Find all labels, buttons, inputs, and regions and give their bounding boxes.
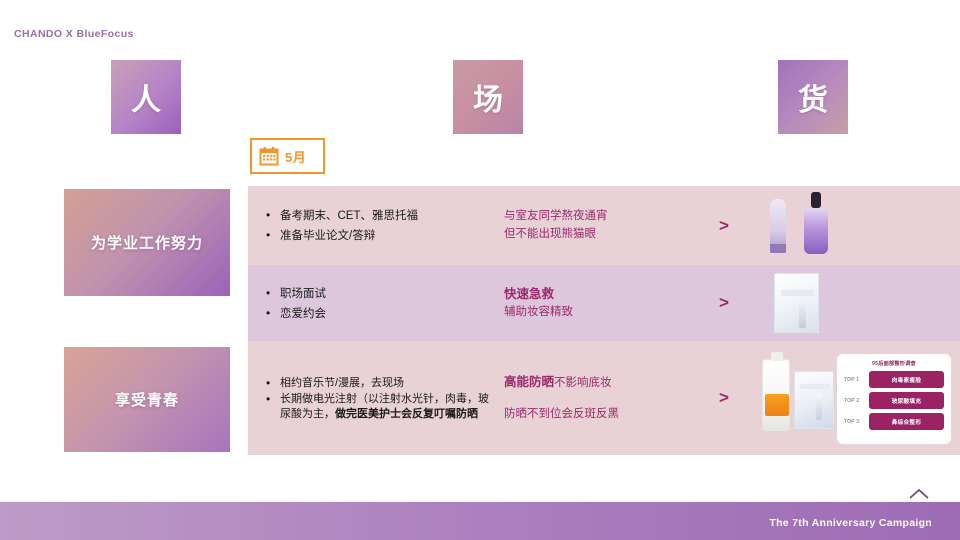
- row3-insight: 高能防晒不影响底妆 防晒不到位会反斑反黑: [500, 341, 700, 455]
- top-item-label: 肉毒素瘦脸: [869, 371, 944, 388]
- row1-insight: 与室友同学熬夜通宵 但不能出现熊猫眼: [500, 186, 700, 265]
- table-row: 相约音乐节/漫展，去现场 长期做电光注射（以注射水光针，肉毒，玻尿酸为主，做完医…: [248, 341, 960, 455]
- insight-highlight: 快速急救: [504, 285, 696, 304]
- top-ranking-row: TOP 1 肉毒素瘦脸: [844, 371, 944, 388]
- row2-arrow[interactable]: >: [700, 265, 748, 341]
- row1-bullets: 备考期末、CET、雅思托福 准备毕业论文/答辩: [248, 186, 500, 265]
- scenario-rows: 备考期末、CET、雅思托福 准备毕业论文/答辩 与室友同学熬夜通宵 但不能出现熊…: [248, 186, 960, 455]
- persona-tile-enjoy-youth: 享受青春: [64, 347, 230, 452]
- top-ranking-row: TOP 3 鼻综合整形: [844, 413, 944, 430]
- chevron-right-icon[interactable]: >: [719, 293, 729, 313]
- category-tile-goods: 货: [778, 60, 848, 134]
- insight-line: 辅助妆容精致: [504, 304, 696, 321]
- insight-line: 与室友同学熬夜通宵: [504, 208, 696, 225]
- top-ranking-card: 95后面部整形调查 TOP 1 肉毒素瘦脸 TOP 2 玻尿酸填充 TOP 3 …: [836, 353, 952, 445]
- top-ranking-row: TOP 2 玻尿酸填充: [844, 392, 944, 409]
- eye-cream-tube-image: [770, 199, 786, 253]
- category-tile-people: 人: [111, 60, 181, 134]
- table-row: 职场面试 恋爱约会 快速急救 辅助妆容精致 >: [248, 265, 960, 341]
- row2-insight: 快速急救 辅助妆容精致: [500, 265, 700, 341]
- row3-products: 95后面部整形调查 TOP 1 肉毒素瘦脸 TOP 2 玻尿酸填充 TOP 3 …: [748, 341, 960, 455]
- list-item: 职场面试: [266, 286, 494, 303]
- list-item: 恋爱约会: [266, 306, 494, 323]
- list-item: 相约音乐节/漫展，去现场: [266, 376, 494, 391]
- insight-line: 但不能出现熊猫眼: [504, 226, 696, 243]
- month-label: 5月: [285, 147, 306, 166]
- top-ranking-title: 95后面部整形调查: [844, 360, 944, 367]
- sheet-mask-box-image: [774, 273, 819, 333]
- row1-arrow[interactable]: >: [700, 186, 748, 265]
- list-item-emphasis: 做完医美护士会反复叮嘱防晒: [335, 408, 478, 420]
- row2-bullets: 职场面试 恋爱约会: [248, 265, 500, 341]
- insight-highlight: 高能防晒: [504, 375, 554, 389]
- top-rank-label: TOP 3: [844, 419, 864, 425]
- table-row: 备考期末、CET、雅思托福 准备毕业论文/答辩 与室友同学熬夜通宵 但不能出现熊…: [248, 186, 960, 265]
- row3-bullets: 相约音乐节/漫展，去现场 长期做电光注射（以注射水光针，肉毒，玻尿酸为主，做完医…: [248, 341, 500, 455]
- category-tile-scene-label: 场: [473, 75, 503, 119]
- top-rank-label: TOP 2: [844, 398, 864, 404]
- insight-highlight-tail: 不影响底妆: [554, 377, 612, 389]
- chevron-right-icon[interactable]: >: [719, 388, 729, 408]
- category-tile-people-label: 人: [131, 75, 161, 119]
- list-item: 准备毕业论文/答辩: [266, 228, 494, 245]
- chevron-up-icon[interactable]: [908, 487, 930, 499]
- list-item: 长期做电光注射（以注射水光针，肉毒，玻尿酸为主，做完医美护士会反复叮嘱防晒: [266, 392, 494, 422]
- top-rank-label: TOP 1: [844, 377, 864, 383]
- insight-line: 防晒不到位会反斑反黑: [504, 406, 696, 423]
- persona-tile-study-work: 为学业工作努力: [64, 189, 230, 296]
- sunscreen-bottle-image: [762, 359, 790, 431]
- category-tile-scene: 场: [453, 60, 523, 134]
- sheet-mask-box-image: [794, 371, 834, 429]
- persona-label-study-work: 为学业工作努力: [91, 232, 203, 253]
- top-item-label: 鼻综合整形: [869, 413, 944, 430]
- row3-arrow[interactable]: >: [700, 341, 748, 455]
- row2-products: [748, 265, 960, 341]
- footer-campaign-text: The 7th Anniversary Campaign: [769, 517, 932, 529]
- row1-products: [748, 186, 960, 265]
- brand-title: CHANDO X BlueFocus: [14, 28, 134, 40]
- list-item: 备考期末、CET、雅思托福: [266, 208, 494, 225]
- category-tile-goods-label: 货: [798, 75, 828, 119]
- serum-dropper-bottle-image: [804, 192, 828, 254]
- calendar-icon: [259, 146, 279, 166]
- month-badge: 5月: [250, 138, 325, 174]
- chevron-right-icon[interactable]: >: [719, 216, 729, 236]
- persona-label-enjoy-youth: 享受青春: [115, 389, 179, 410]
- list-item-text: 相约音乐节/漫展，去现场: [280, 377, 404, 389]
- top-item-label: 玻尿酸填充: [869, 392, 944, 409]
